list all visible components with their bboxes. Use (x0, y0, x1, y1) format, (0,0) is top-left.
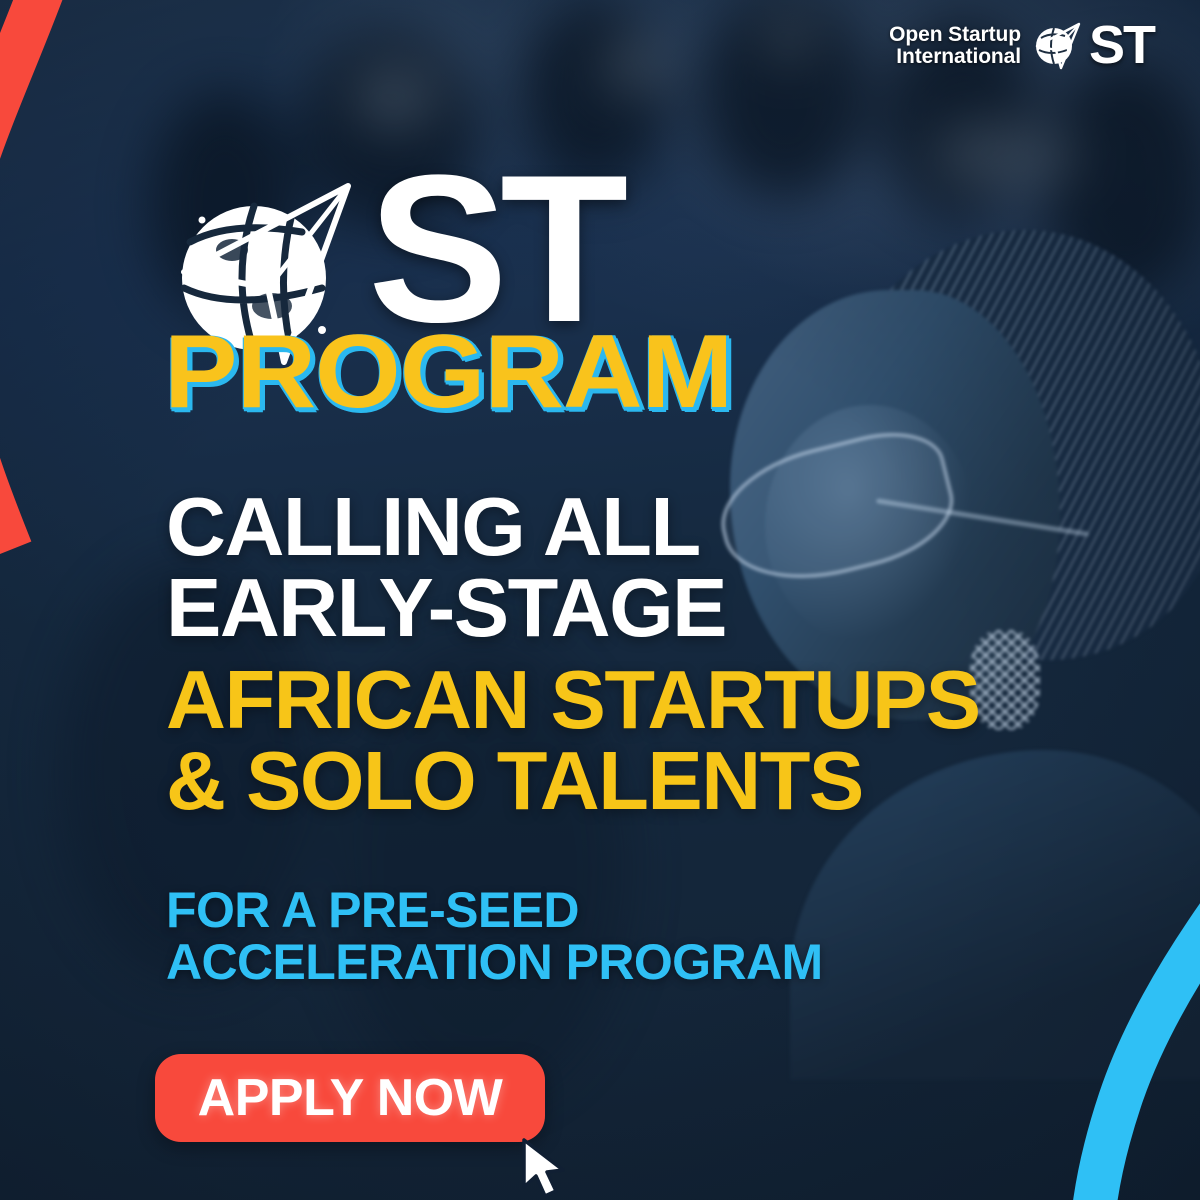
corporate-logo-line1: Open Startup (889, 24, 1021, 46)
promotional-poster: Open Startup International ST ST PROGRA (0, 0, 1200, 1200)
corporate-logo: Open Startup International ST (889, 20, 1154, 72)
corporate-logo-line2: International (896, 46, 1021, 68)
corporate-logo-text: Open Startup International (889, 24, 1021, 69)
headline-line-2: EARLY-STAGE (166, 567, 1126, 648)
subheadline-block: FOR A PRE-SEED ACCELERATION PROGRAM (166, 884, 823, 988)
hero-program-label: PROGRAM (164, 320, 732, 424)
subheadline-line-1: FOR A PRE-SEED (166, 884, 823, 936)
headline-line-3: AFRICAN STARTUPS (166, 659, 1126, 740)
subheadline-line-2: ACCELERATION PROGRAM (166, 936, 823, 988)
headline-line-4: & SOLO TALENTS (166, 740, 1126, 821)
headline-block: CALLING ALL EARLY-STAGE AFRICAN STARTUPS… (166, 486, 1126, 821)
apply-now-button[interactable]: APPLY NOW (155, 1054, 545, 1142)
hero-logo: ST PROGRAM (172, 172, 732, 442)
corporate-logo-mark: ST (1031, 20, 1154, 72)
cyan-swoosh-decoration (1000, 800, 1200, 1200)
headline-line-1: CALLING ALL (166, 486, 1126, 567)
corporate-logo-wordmark: ST (1089, 24, 1154, 67)
globe-paper-plane-icon (1031, 20, 1087, 72)
